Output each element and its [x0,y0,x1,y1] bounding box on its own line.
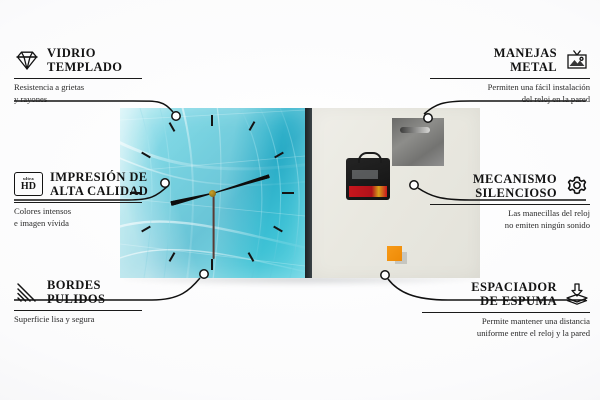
metal-hanger-plate [392,118,444,166]
callout-description: Permite mantener una distancia uniforme … [422,316,590,339]
mechanism-sticker [352,170,378,179]
callout-title: VIDRIO TEMPLADO [47,46,122,74]
callout-rule [430,78,590,79]
callout-rule [430,204,590,205]
callout-title: MECANISMO SILENCIOSO [473,172,557,200]
clock-edge [305,108,312,278]
hanger-slot [400,127,430,133]
callout-title: BORDES PULIDOS [47,278,105,306]
callout-header: BORDES PULIDOS [14,278,154,306]
diamond-icon [14,48,40,72]
callout-header: ultra HD IMPRESIÓN DE ALTA CALIDAD [14,170,154,198]
clock-tick [211,259,213,270]
callout-title: MANEJAS METAL [494,46,557,74]
gear-icon [564,174,590,198]
callout-impresion-alta-calidad: ultra HD IMPRESIÓN DE ALTA CALIDAD Color… [14,170,154,229]
callout-description: Colores intensos e imagen vívida [14,206,154,229]
callout-espaciador-espuma: ESPACIADOR DE ESPUMA Permite mantener un… [422,280,590,339]
product-photo [120,108,480,280]
callout-rule [14,78,142,79]
clock-second-hand [213,193,215,259]
callout-header: MECANISMO SILENCIOSO [430,172,590,200]
callout-description: Superficie lisa y segura [14,314,154,325]
callout-rule [14,310,142,311]
polished-edge-icon [14,280,40,304]
infographic-canvas: VIDRIO TEMPLADO Resistencia a grietas y … [0,0,600,400]
picture-hanger-icon [564,48,590,72]
callout-description: Resistencia a grietas y rayones [14,82,150,105]
clock-mechanism [346,158,390,200]
callout-description: Las manecillas del reloj no emiten ningú… [430,208,590,231]
callout-manejas-metal: MANEJAS METAL Permiten una fácil instala… [430,46,590,105]
mechanism-label [349,186,387,197]
clock-pivot [209,190,216,197]
callout-title: IMPRESIÓN DE ALTA CALIDAD [50,170,148,198]
callout-rule [422,312,590,313]
ultra-hd-icon: ultra HD [14,172,43,196]
foam-spacer [387,246,402,261]
callout-mecanismo-silencioso: MECANISMO SILENCIOSO Las manecillas del … [430,172,590,231]
callout-header: ESPACIADOR DE ESPUMA [422,280,590,308]
mechanism-hook [358,152,382,163]
clock-tick [282,192,294,194]
foam-spacer-icon [564,282,590,306]
callout-header: VIDRIO TEMPLADO [14,46,150,74]
ultra-hd-main-text: HD [21,182,36,192]
callout-header: MANEJAS METAL [430,46,590,74]
callout-bordes-pulidos: BORDES PULIDOS Superficie lisa y segura [14,278,154,326]
clock-tick [211,115,213,126]
callout-description: Permiten una fácil instalación del reloj… [430,82,590,105]
callout-rule [14,202,142,203]
callout-vidrio-templado: VIDRIO TEMPLADO Resistencia a grietas y … [14,46,150,105]
callout-title: ESPACIADOR DE ESPUMA [471,280,557,308]
